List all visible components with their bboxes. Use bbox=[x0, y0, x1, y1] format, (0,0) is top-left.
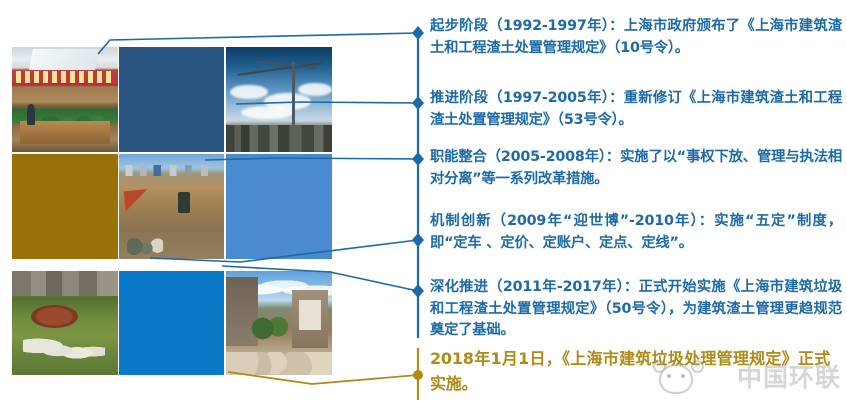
slide-canvas: 起步阶段（1992-1997年）：上海市政府颁布了《上海市建筑渣土和工程渣土处置… bbox=[0, 0, 847, 408]
foliage bbox=[251, 313, 289, 344]
ruined-building-right bbox=[292, 290, 328, 348]
timeline-text-stage-2: 推进阶段（1997-2005年）：重新修订《上海市建筑渣土和工程渣土处置管理规定… bbox=[430, 88, 842, 131]
timeline-node bbox=[412, 284, 424, 298]
timeline-node bbox=[412, 26, 424, 40]
city-skyline bbox=[226, 125, 332, 152]
excavator-arm bbox=[124, 188, 154, 218]
demolition-site-photo bbox=[226, 271, 332, 375]
timeline-node bbox=[412, 96, 424, 110]
red-banner-text bbox=[16, 71, 114, 83]
timeline-node bbox=[413, 370, 423, 380]
construction-crane-photo bbox=[226, 47, 332, 152]
speaker-figure bbox=[27, 104, 35, 125]
expo-lettering bbox=[23, 333, 106, 364]
gold-swatch bbox=[12, 154, 118, 259]
cloud-shape bbox=[241, 106, 294, 120]
background-skyline bbox=[119, 165, 224, 177]
timeline-text-stage-3: 职能整合（2005-2008年）：实施了以“事权下放、管理与执法相对分离”等一系… bbox=[430, 147, 842, 190]
timeline-node bbox=[412, 152, 424, 166]
timeline-node bbox=[412, 233, 424, 247]
ceiling-light-panel bbox=[29, 49, 98, 70]
flower-bed bbox=[31, 305, 78, 328]
dump-truck bbox=[178, 192, 191, 213]
cloud-shape bbox=[298, 83, 332, 97]
timeline-text-stage-4: 机制创新（2009年“迎世博”-2010年）：实施“五定”制度，即“定车 、定价… bbox=[430, 211, 842, 254]
timeline-text-stage-5: 深化推进（2011年-2017年）：正式开始实施《上海市建筑垃圾和工程渣土处置管… bbox=[430, 277, 842, 342]
cloud-shape bbox=[230, 85, 268, 100]
dark-blue-swatch bbox=[119, 47, 224, 152]
crane-mast bbox=[292, 62, 295, 127]
expo-garden-photo bbox=[12, 271, 118, 375]
timeline-text-stage-6: 2018年1月1日，《上海市建筑垃圾处理管理规定》正式实施。 bbox=[430, 347, 830, 397]
conference-hall-photo bbox=[12, 47, 118, 152]
soil-rubble bbox=[127, 238, 163, 255]
timeline-text-stage-1: 起步阶段（1992-1997年）：上海市政府颁布了《上海市建筑渣土和工程渣土处置… bbox=[430, 16, 842, 59]
bright-blue-swatch bbox=[119, 271, 224, 375]
background-buildings bbox=[12, 271, 118, 296]
stone-rubble bbox=[226, 352, 332, 375]
excavation-site-photo bbox=[119, 154, 224, 259]
mid-blue-swatch bbox=[226, 154, 332, 259]
